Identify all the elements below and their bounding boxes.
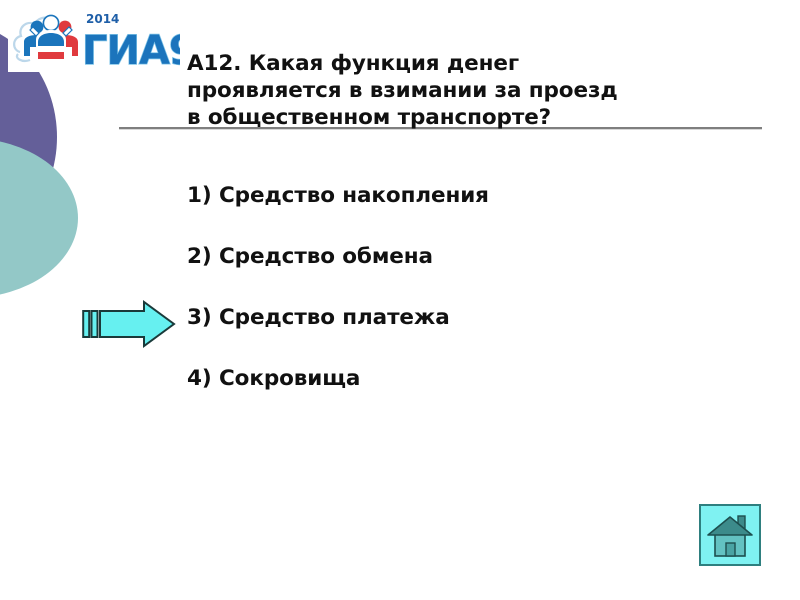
question-text: A12. Какая функция денег проявляется в в… [187,50,762,131]
home-icon[interactable] [699,504,761,566]
answer-option-1[interactable]: 1) Средство накопления [187,183,762,244]
logo-year: 2014 [86,12,119,26]
question-line-3: в общественном транспорте? [187,104,762,131]
answer-option-2[interactable]: 2) Средство обмена [187,244,762,305]
answer-pointer-arrow [82,300,177,348]
question-line-2: проявляется в взимании за проезд [187,77,762,104]
logo-figure-center-head [43,15,58,30]
gia9-logo-svg: 2014 ГИА9 [8,6,180,72]
decorative-circle-teal [0,138,78,298]
slide-canvas: 2014 ГИА9 A12. Какая функция денег прояв… [0,0,800,600]
home-button[interactable] [699,504,761,566]
answer-option-4[interactable]: 4) Сокровища [187,366,762,427]
answer-options-list: 1) Средство накопления 2) Средство обмен… [187,183,762,427]
arrow-right-icon [82,300,177,348]
question-line-1: A12. Какая функция денег [187,50,762,77]
logo-wordmark: ГИА9 [82,28,180,72]
gia9-logo: 2014 ГИА9 [8,6,180,72]
answer-option-3[interactable]: 3) Средство платежа [187,305,762,366]
